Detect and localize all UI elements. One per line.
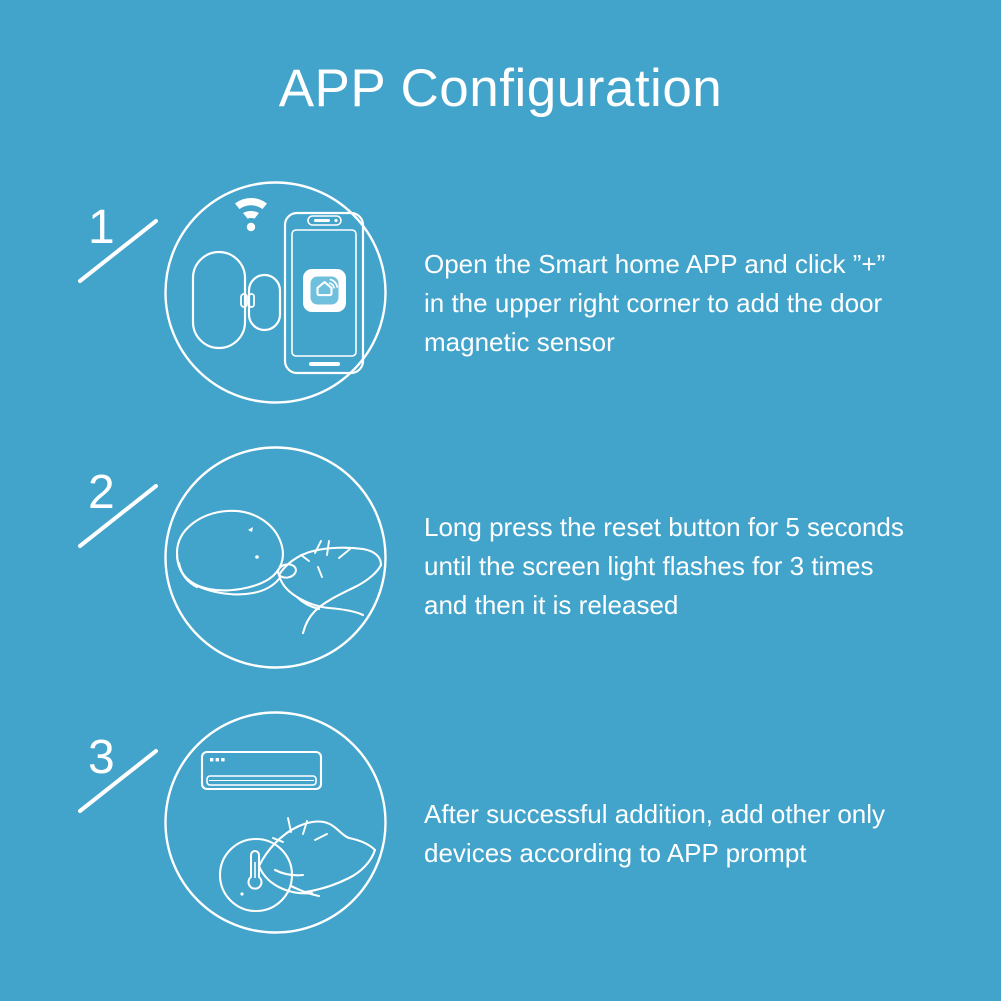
step-2-slash-icon <box>72 480 168 552</box>
step-1-text: Open the Smart home APP and click ”+” in… <box>424 245 964 362</box>
step-3-text-line-1: After successful addition, add other onl… <box>424 795 964 834</box>
step-3-slash-icon <box>72 745 168 817</box>
step-1-slash-icon <box>72 215 168 287</box>
step-2-circle-outline <box>166 448 386 668</box>
step-2-text-line-3: and then it is released <box>424 586 964 625</box>
phone-home-indicator-icon <box>309 362 340 366</box>
step-1-illustration <box>163 180 388 405</box>
step-3: 3 <box>0 695 1001 955</box>
step-1-text-line-1: Open the Smart home APP and click ”+” <box>424 245 964 284</box>
page-title: APP Configuration <box>0 58 1001 119</box>
smart-home-app-icon <box>303 269 346 312</box>
step-2-illustration <box>163 445 388 670</box>
step-3-text-line-2: devices according to APP prompt <box>424 834 964 873</box>
step-2-text-line-2: until the screen light flashes for 3 tim… <box>424 547 964 586</box>
step-3-text: After successful addition, add other onl… <box>424 795 964 873</box>
step-3-illustration <box>163 710 388 935</box>
step-2: 2 <box>0 430 1001 690</box>
wifi-icon <box>235 198 267 231</box>
step-1-text-line-3: magnetic sensor <box>424 323 964 362</box>
press-flash-icon <box>301 541 350 577</box>
device-reset-dot-icon <box>255 555 259 559</box>
air-conditioner-icon <box>202 752 321 789</box>
door-sensor-body-icon <box>193 252 245 348</box>
device-mark-icon <box>248 527 253 532</box>
step-3-circle-outline <box>166 713 386 933</box>
step-2-text: Long press the reset button for 5 second… <box>424 508 964 625</box>
hand-icon <box>259 822 375 897</box>
step-1-circle-outline <box>166 183 386 403</box>
step-1: 1 <box>0 165 1001 425</box>
thermometer-sensor-icon <box>220 839 292 911</box>
step-2-text-line-1: Long press the reset button for 5 second… <box>424 508 964 547</box>
app-configuration-page: APP Configuration 1 <box>0 0 1001 1001</box>
step-1-text-line-2: in the upper right corner to add the doo… <box>424 284 964 323</box>
sensor-device-icon <box>177 511 283 595</box>
